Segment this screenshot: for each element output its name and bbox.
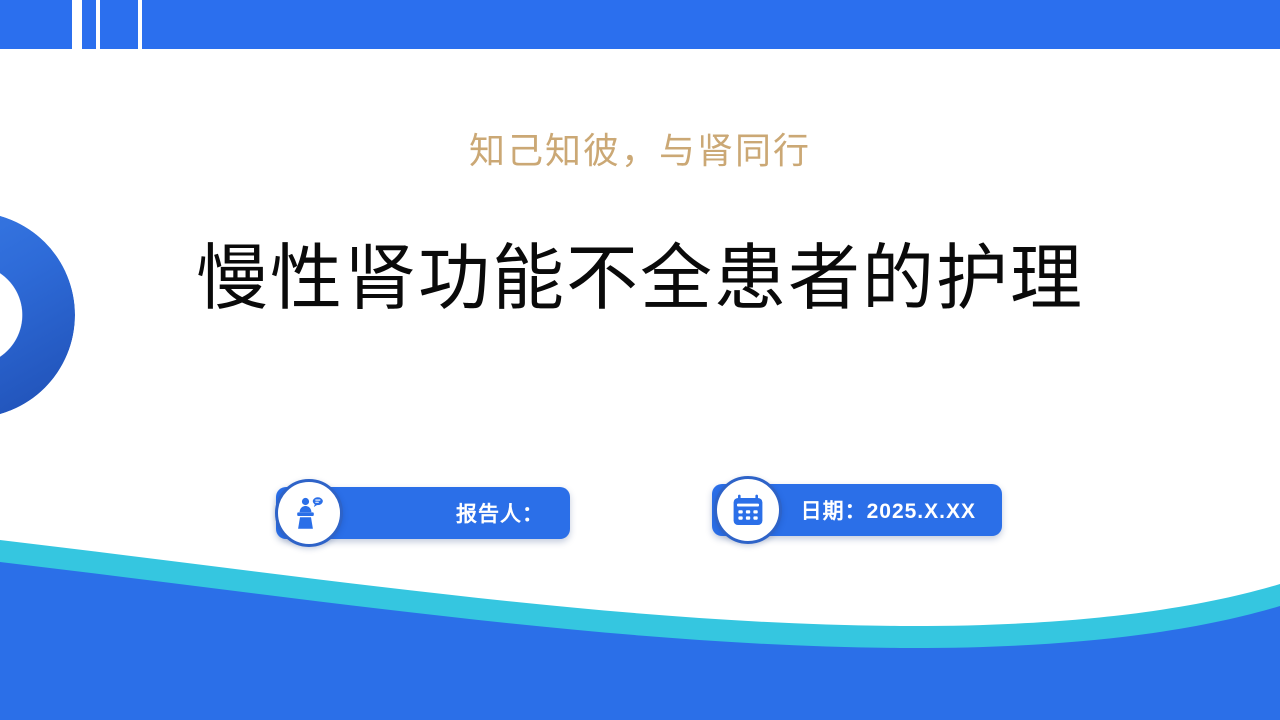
top-bar-segment-2 — [82, 0, 96, 49]
top-bar-segment-1 — [0, 0, 72, 49]
presentation-slide: 知己知彼，与肾同行 慢性肾功能不全患者的护理 报告人： 日期：2025.X.XX — [0, 0, 1280, 720]
top-bar-segment-4 — [142, 0, 1280, 49]
bottom-wave-decoration — [0, 520, 1280, 720]
top-bar-segment-3 — [100, 0, 138, 49]
slide-subtitle: 知己知彼，与肾同行 — [0, 122, 1280, 174]
slide-title: 慢性肾功能不全患者的护理 — [0, 239, 1280, 318]
wave-blue-shape — [0, 562, 1280, 720]
